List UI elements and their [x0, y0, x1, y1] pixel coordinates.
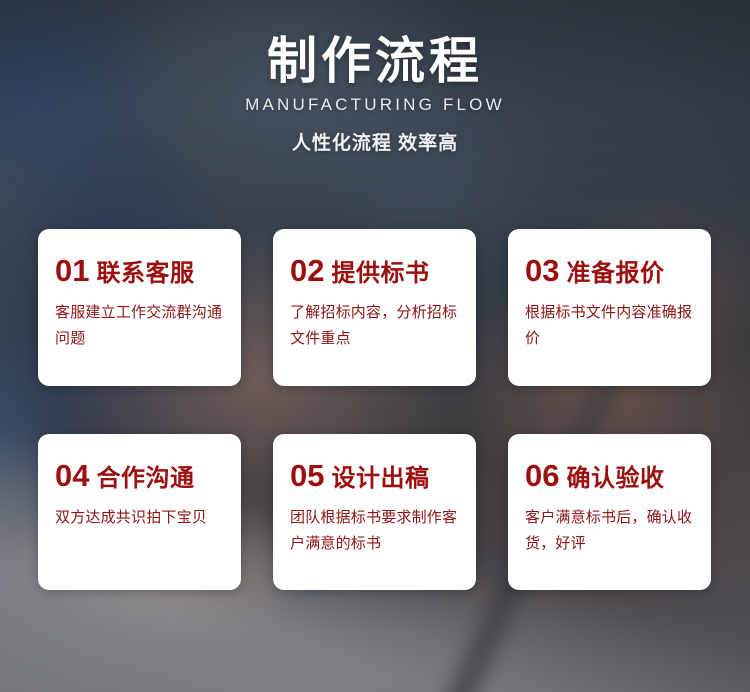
page-subtitle-english: MANUFACTURING FLOW — [0, 96, 750, 113]
step-card-03[interactable]: 03 准备报价 根据标书文件内容准确报价 — [508, 229, 711, 386]
page-tagline: 人性化流程 效率高 — [0, 134, 750, 153]
step-title: 确认验收 — [566, 467, 664, 491]
step-card-02[interactable]: 02 提供标书 了解招标内容，分析招标文件重点 — [273, 229, 476, 386]
step-title: 提供标书 — [331, 262, 429, 286]
step-card-header: 03 准备报价 — [525, 255, 695, 286]
step-number: 04 — [55, 460, 89, 491]
poster-root: 制作流程 MANUFACTURING FLOW 人性化流程 效率高 01 联系客… — [0, 0, 750, 692]
step-description: 双方达成共识拍下宝贝 — [55, 505, 225, 531]
step-number: 01 — [55, 255, 89, 286]
step-card-header: 01 联系客服 — [55, 255, 225, 286]
step-title: 合作沟通 — [96, 467, 194, 491]
step-card-header: 05 设计出稿 — [290, 460, 460, 491]
step-card-header: 06 确认验收 — [525, 460, 695, 491]
step-description: 根据标书文件内容准确报价 — [525, 300, 695, 353]
step-description: 客服建立工作交流群沟通问题 — [55, 300, 225, 353]
step-card-05[interactable]: 05 设计出稿 团队根据标书要求制作客户满意的标书 — [273, 434, 476, 590]
step-number: 03 — [525, 255, 559, 286]
step-title: 联系客服 — [96, 262, 194, 286]
step-card-06[interactable]: 06 确认验收 客户满意标书后，确认收货，好评 — [508, 434, 711, 590]
step-number: 06 — [525, 460, 559, 491]
step-description: 团队根据标书要求制作客户满意的标书 — [290, 505, 460, 558]
step-card-header: 02 提供标书 — [290, 255, 460, 286]
step-title: 设计出稿 — [331, 467, 429, 491]
step-description: 客户满意标书后，确认收货，好评 — [525, 505, 695, 558]
step-card-04[interactable]: 04 合作沟通 双方达成共识拍下宝贝 — [38, 434, 241, 590]
step-card-01[interactable]: 01 联系客服 客服建立工作交流群沟通问题 — [38, 229, 241, 386]
step-card-header: 04 合作沟通 — [55, 460, 225, 491]
page-title: 制作流程 — [0, 0, 750, 86]
step-title: 准备报价 — [566, 262, 664, 286]
step-description: 了解招标内容，分析招标文件重点 — [290, 300, 460, 353]
header: 制作流程 MANUFACTURING FLOW 人性化流程 效率高 — [0, 0, 750, 153]
step-number: 02 — [290, 255, 324, 286]
steps-grid: 01 联系客服 客服建立工作交流群沟通问题 02 提供标书 了解招标内容，分析招… — [38, 229, 712, 590]
step-number: 05 — [290, 460, 324, 491]
